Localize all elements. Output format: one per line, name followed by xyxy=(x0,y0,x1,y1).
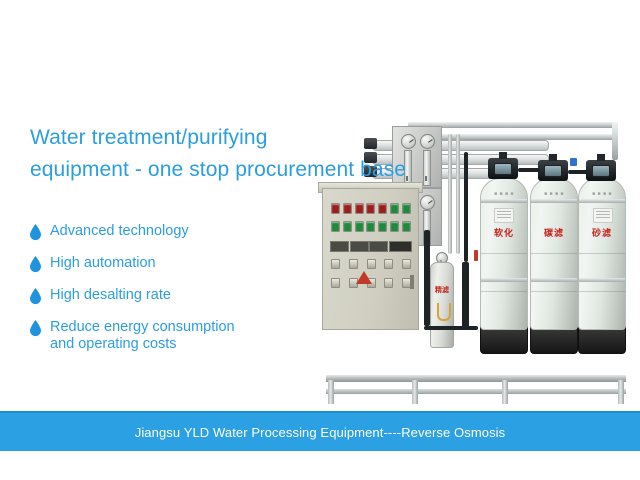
indicator-lamp-red xyxy=(343,203,352,214)
headline-line-1: Water treatment/purifying xyxy=(30,122,430,154)
multiport-valve-head-2 xyxy=(538,160,568,181)
digital-meter-row xyxy=(330,241,412,252)
list-item-label: High desalting rate xyxy=(50,286,171,304)
water-drop-icon xyxy=(30,224,41,240)
red-valve-handle xyxy=(474,250,478,261)
cartridge-filter-label: 精滤 xyxy=(431,285,453,295)
indicator-lamp-green xyxy=(390,221,399,232)
black-pipe xyxy=(464,152,468,262)
tank-base xyxy=(530,326,578,354)
valve-connect-pipe xyxy=(568,170,588,174)
list-item: High desalting rate xyxy=(30,286,285,304)
indicator-lamp-green xyxy=(366,221,375,232)
tank-top-print: ■ ■ ■ ■ xyxy=(531,191,577,197)
slide-canvas: 精滤 ■ ■ ■ ■ 软化 ■ ■ ■ ■ 碳滤 xyxy=(0,0,640,480)
selector-knob xyxy=(349,259,358,269)
selector-knob xyxy=(331,278,340,288)
digital-meter xyxy=(389,241,412,252)
blue-valve-handle xyxy=(570,158,577,166)
indicator-lamp-green xyxy=(402,221,411,232)
indicator-lamp-green xyxy=(343,221,352,232)
water-drop-icon xyxy=(30,288,41,304)
steel-pipe xyxy=(456,134,460,254)
tank-seam xyxy=(481,253,527,254)
feature-list: Advanced technology High automation High… xyxy=(30,222,285,353)
list-item: Advanced technology xyxy=(30,222,285,240)
frame-leg xyxy=(328,380,334,404)
tank-sticker xyxy=(494,208,514,223)
footer-banner-text: Jiangsu YLD Water Processing Equipment--… xyxy=(135,425,506,440)
water-drop-icon xyxy=(30,256,41,272)
black-pipe xyxy=(424,326,478,330)
black-pipe xyxy=(424,230,430,326)
frame-corner-post xyxy=(612,122,618,160)
valve-display xyxy=(544,165,562,177)
electrical-hazard-triangle-icon xyxy=(356,271,372,284)
list-item: High automation xyxy=(30,254,285,272)
indicator-lamp-green xyxy=(402,203,411,214)
valve-neck xyxy=(597,154,605,161)
valve-neck xyxy=(549,154,557,161)
tank-band xyxy=(531,199,577,203)
tank-sticker xyxy=(593,208,613,223)
selector-knob xyxy=(384,259,393,269)
selector-knob xyxy=(367,259,376,269)
tank-seam xyxy=(579,291,625,292)
frp-tank-carbon: ■ ■ ■ ■ 碳滤 xyxy=(530,178,578,330)
selector-knob xyxy=(331,259,340,269)
pump-body xyxy=(462,262,469,328)
frame-leg xyxy=(502,380,508,404)
list-item-label: Reduce energy consumption and operating … xyxy=(50,318,235,353)
indicator-lamp-red xyxy=(355,203,364,214)
indicator-lamp-grid xyxy=(331,203,411,239)
tank-base xyxy=(480,326,528,354)
tank-base xyxy=(578,326,626,354)
tank-seam xyxy=(579,253,625,254)
page-title: Water treatment/purifying equipment - on… xyxy=(30,122,430,186)
frame-leg xyxy=(618,380,624,404)
tank-band xyxy=(579,199,625,203)
precision-cartridge-filter: 精滤 xyxy=(430,262,454,348)
tank-seam xyxy=(481,291,527,292)
lamp-row-bottom xyxy=(331,221,411,232)
main-switch xyxy=(410,275,414,289)
knob-row-top xyxy=(331,259,411,269)
tank-band xyxy=(579,278,625,282)
steel-pipe xyxy=(448,134,452,254)
footer-banner: Jiangsu YLD Water Processing Equipment--… xyxy=(0,411,640,451)
valve-display xyxy=(494,163,512,175)
tank-band xyxy=(481,278,527,282)
frp-tank-softener: ■ ■ ■ ■ 软化 xyxy=(480,178,528,330)
frp-tank-sand: ■ ■ ■ ■ 砂滤 xyxy=(578,178,626,330)
indicator-lamp-red xyxy=(331,203,340,214)
valve-connect-pipe xyxy=(518,168,540,172)
indicator-lamp-green xyxy=(331,221,340,232)
valve-neck xyxy=(499,152,507,159)
water-drop-icon xyxy=(30,320,41,336)
indicator-lamp-green xyxy=(378,221,387,232)
tank-seam xyxy=(531,253,577,254)
indicator-lamp-green xyxy=(390,203,399,214)
tank-band xyxy=(481,199,527,203)
tank-label: 软化 xyxy=(481,226,527,239)
base-frame-rail-lower xyxy=(326,389,626,394)
selector-knob xyxy=(402,259,411,269)
lamp-row-top xyxy=(331,203,411,214)
indicator-lamp-red xyxy=(366,203,375,214)
digital-meter xyxy=(350,241,369,252)
headline-line-2: equipment - one stop procurement base xyxy=(30,154,430,186)
tank-seam xyxy=(531,291,577,292)
list-item: Reduce energy consumption and operating … xyxy=(30,318,285,353)
frame-leg xyxy=(412,380,418,404)
valve-display xyxy=(592,165,610,177)
tank-top-print: ■ ■ ■ ■ xyxy=(579,191,625,197)
digital-meter xyxy=(369,241,388,252)
multiport-valve-head-3 xyxy=(586,160,616,181)
tank-top-print: ■ ■ ■ ■ xyxy=(481,191,527,197)
tank-band xyxy=(531,278,577,282)
base-frame-rail xyxy=(326,375,626,382)
control-cabinet xyxy=(322,188,419,330)
digital-meter xyxy=(330,241,349,252)
tank-label: 砂滤 xyxy=(579,226,625,239)
cartridge-marking xyxy=(437,303,451,321)
list-item-label: Advanced technology xyxy=(50,222,189,240)
indicator-lamp-red xyxy=(378,203,387,214)
pressure-gauge-icon xyxy=(420,195,435,210)
indicator-lamp-green xyxy=(355,221,364,232)
selector-knob xyxy=(384,278,393,288)
list-item-label: High automation xyxy=(50,254,156,272)
multiport-valve-head-1 xyxy=(488,158,518,179)
tank-label: 碳滤 xyxy=(531,226,577,239)
